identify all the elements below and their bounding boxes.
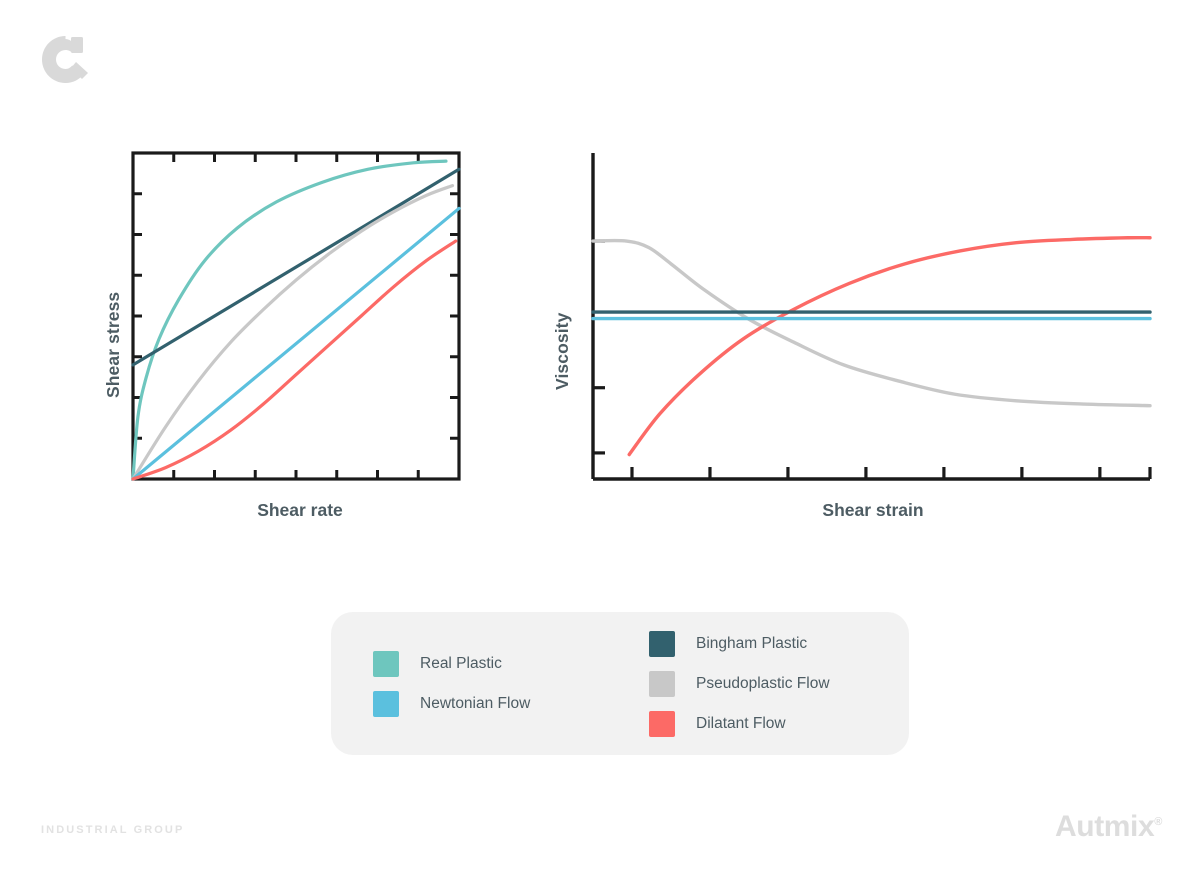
chart-shear-stress-vs-shear-rate: Shear stress Shear rate [80,140,480,550]
plot-area-right [530,140,1170,500]
legend-label: Pseudoplastic Flow [696,675,830,693]
legend-entry[interactable]: Real Plastic [373,644,530,684]
legend-swatch [373,651,399,677]
x-axis-title-shear-strain: Shear strain [593,500,1153,521]
legend-label: Bingham Plastic [696,635,807,653]
legend-entry[interactable]: Dilatant Flow [649,704,830,744]
legend-entry[interactable]: Pseudoplastic Flow [649,664,830,704]
x-axis-title-shear-rate: Shear rate [135,500,465,521]
legend-label: Dilatant Flow [696,715,786,733]
legend-entry[interactable]: Bingham Plastic [649,624,830,664]
legend-label: Newtonian Flow [420,695,530,713]
autmix-c-logo-icon [38,32,94,88]
charts-area: Shear stress Shear rate Viscosity Shear … [0,140,1200,550]
legend-entry[interactable]: Newtonian Flow [373,684,530,724]
footer-tagline: INDUSTRIAL GROUP [41,824,184,836]
legend-swatch [649,631,675,657]
legend-label: Real Plastic [420,655,502,673]
plot-area-left [80,140,480,500]
legend-swatch [649,671,675,697]
legend-column-left: Real PlasticNewtonian Flow [373,612,530,755]
chart-viscosity-vs-shear-strain: Viscosity Shear strain [530,140,1170,550]
registered-trademark-icon: ® [1154,816,1162,828]
legend-column-right: Bingham PlasticPseudoplastic FlowDilatan… [649,612,830,755]
legend-swatch [373,691,399,717]
legend-swatch [649,711,675,737]
footer-brand-word: Autmix [1055,810,1154,843]
legend-card: Real PlasticNewtonian Flow Bingham Plast… [331,612,909,755]
footer-brand-name: Autmix® [1055,810,1162,844]
